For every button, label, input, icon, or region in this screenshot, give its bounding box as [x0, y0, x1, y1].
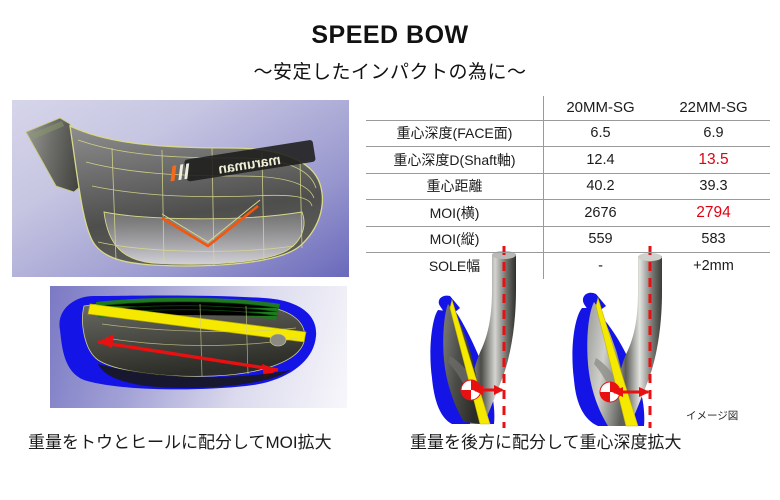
cell-22mm: 39.3 [657, 173, 770, 200]
row-label: 重心深度(FACE面) [366, 120, 543, 147]
cell-22mm: +2mm [657, 253, 770, 279]
image-note-label: イメージ図 [686, 408, 738, 423]
cell-22mm: 6.9 [657, 120, 770, 147]
cad-figure-iron-side-view: maruman [12, 100, 349, 277]
cell-20mm: 40.2 [543, 173, 657, 200]
iron-top-weight-diagram [50, 286, 347, 408]
row-label: 重心深度D(Shaft軸) [366, 147, 543, 174]
table-row: MOI(縦) 559 583 [366, 226, 770, 253]
cell-20mm: 6.5 [543, 120, 657, 147]
row-label: 重心距離 [366, 173, 543, 200]
title-block: SPEED BOW 〜安定したインパクトの為に〜 [0, 22, 780, 84]
page-title: SPEED BOW [0, 22, 780, 50]
caption-right-figure: 重量を後方に配分して重心深度拡大 [410, 428, 682, 453]
spec-table: 20MM-SG 22MM-SG 重心深度(FACE面) 6.5 6.9 重心深度… [366, 96, 770, 279]
table-row: 重心深度(FACE面) 6.5 6.9 [366, 120, 770, 147]
table-row: 重心距離 40.2 39.3 [366, 173, 770, 200]
cad-figure-iron-top-view [50, 286, 347, 408]
cell-22mm-highlighted: 13.5 [657, 147, 770, 174]
column-header-20mm: 20MM-SG [543, 96, 657, 120]
cell-22mm-highlighted: 2794 [657, 200, 770, 227]
row-label: MOI(横) [366, 200, 543, 227]
table-header-row: 20MM-SG 22MM-SG [366, 96, 770, 120]
row-label: SOLE幅 [366, 253, 543, 279]
column-header-22mm: 22MM-SG [657, 96, 770, 120]
cell-20mm: - [543, 253, 657, 279]
table-row: SOLE幅 - +2mm [366, 253, 770, 279]
column-header-blank [366, 96, 543, 120]
spec-table-container: 20MM-SG 22MM-SG 重心深度(FACE面) 6.5 6.9 重心深度… [366, 96, 770, 279]
cell-20mm: 12.4 [543, 147, 657, 174]
iron-side-wireframe: maruman [12, 100, 349, 277]
cell-22mm: 583 [657, 226, 770, 253]
page-subtitle: 〜安定したインパクトの為に〜 [0, 57, 780, 84]
weight-insert [270, 334, 286, 346]
table-row: MOI(横) 2676 2794 [366, 200, 770, 227]
table-row: 重心深度D(Shaft軸) 12.4 13.5 [366, 147, 770, 174]
cell-20mm: 2676 [543, 200, 657, 227]
row-label: MOI(縦) [366, 226, 543, 253]
cell-20mm: 559 [543, 226, 657, 253]
caption-left-figure: 重量をトウとヒールに配分してMOI拡大 [28, 428, 332, 453]
